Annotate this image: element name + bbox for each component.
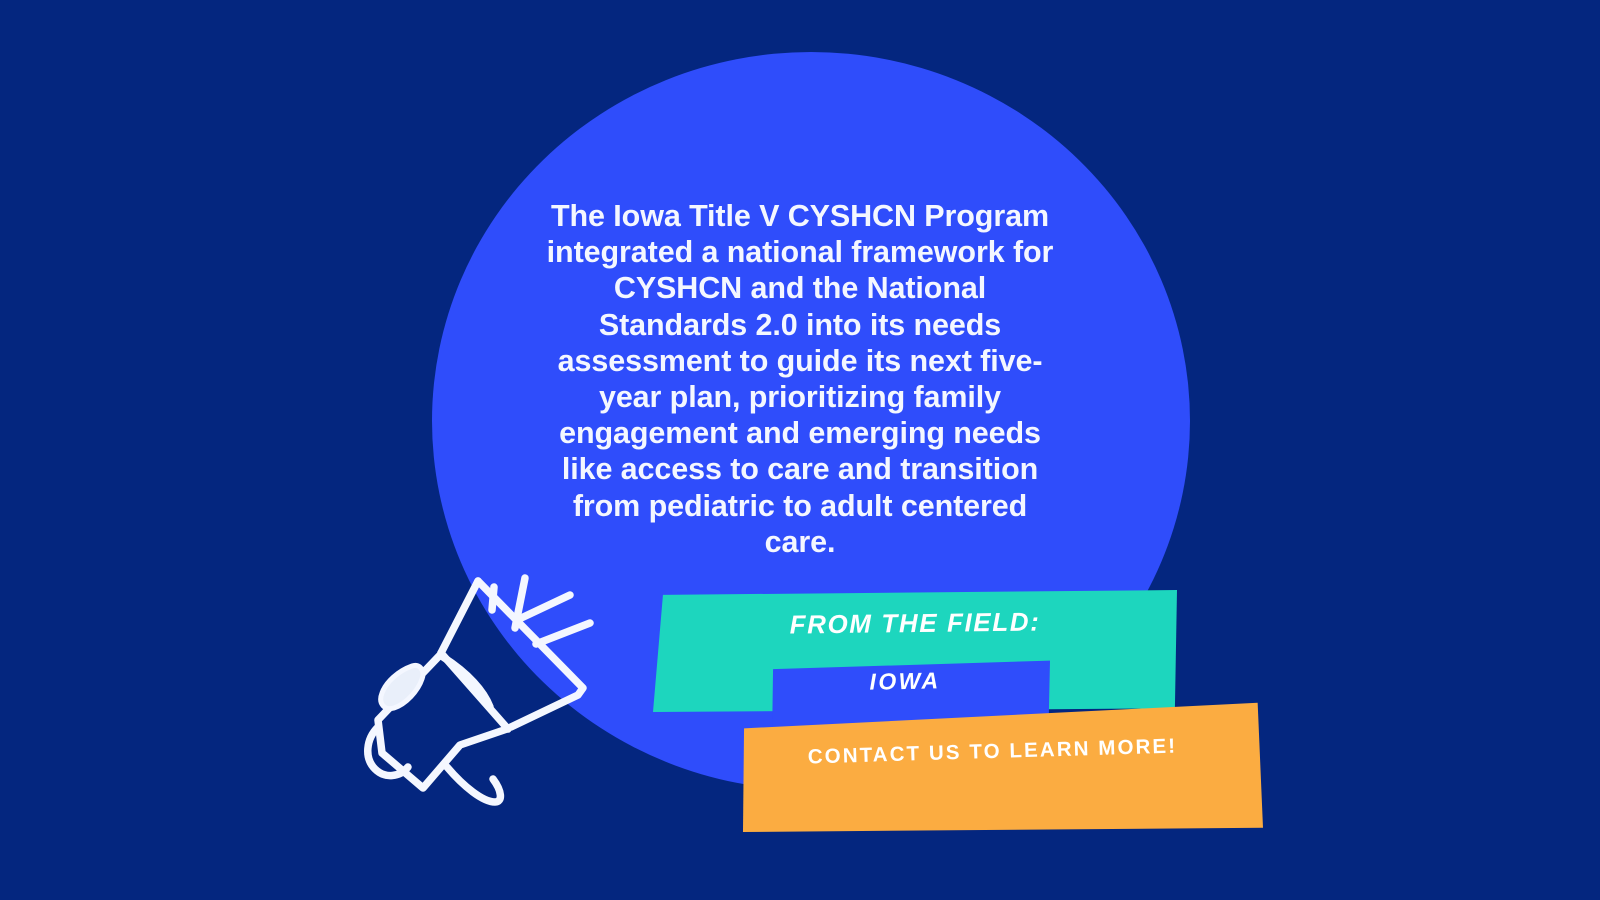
slide-canvas: The Iowa Title V CYSHCN Program integrat… <box>0 0 1600 900</box>
state-badge-label: IOWA <box>760 665 1050 698</box>
from-the-field-label: FROM THE FIELD: <box>653 605 1177 642</box>
megaphone-icon <box>340 515 640 815</box>
headline-paragraph: The Iowa Title V CYSHCN Program integrat… <box>540 198 1060 560</box>
